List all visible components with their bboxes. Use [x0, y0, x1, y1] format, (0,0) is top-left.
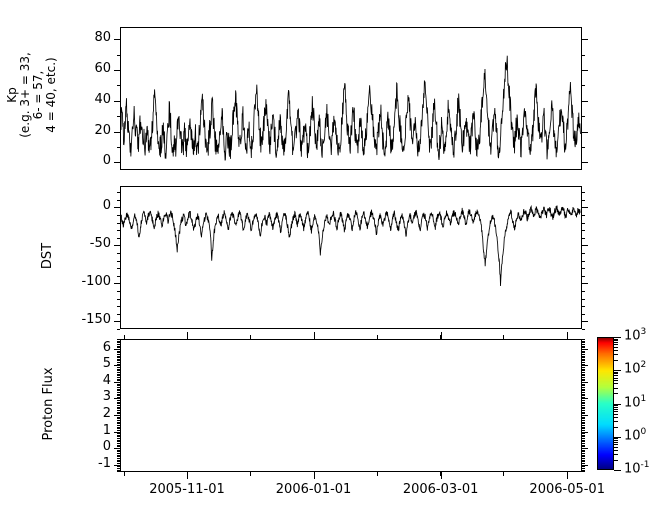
colorbar-minor-tick: [614, 375, 618, 376]
y-minor-tick: [582, 430, 585, 431]
y-minor-tick: [582, 116, 585, 117]
y-minor-tick: [582, 412, 585, 413]
colorbar-tick-exponent: 1: [641, 394, 647, 404]
y-minor-tick: [117, 461, 120, 462]
x-tick-label: 2006-01-01: [259, 482, 369, 497]
y-minor-tick: [117, 446, 120, 447]
y-minor-tick: [117, 55, 120, 56]
colorbar-tick-label: 102: [624, 360, 646, 376]
y-minor-tick: [582, 440, 585, 441]
y-major-tick: [114, 321, 120, 322]
colorbar-minor-tick: [614, 378, 618, 379]
y-minor-tick: [582, 407, 585, 408]
y-minor-tick: [117, 342, 120, 343]
y-minor-tick: [117, 394, 120, 395]
y-minor-tick: [582, 403, 585, 404]
y-minor-tick: [582, 276, 585, 277]
y-minor-tick: [582, 356, 585, 357]
colorbar-tick-exponent: -1: [641, 460, 650, 470]
y-minor-tick: [582, 390, 585, 391]
y-minor-tick: [117, 384, 120, 385]
panel-kp-ylabel-line: 4 = 40, etc.): [45, 57, 58, 132]
x-major-tick: [441, 472, 442, 479]
y-minor-tick: [582, 306, 585, 307]
y-minor-tick: [582, 410, 585, 411]
colorbar-minor-tick: [614, 339, 618, 340]
y-minor-tick: [582, 374, 585, 375]
x-minor-tick: [503, 472, 504, 476]
colorbar-minor-tick: [614, 442, 618, 443]
panel-proton-flux-ylabel: Proton Flux: [42, 349, 56, 459]
x-major-tick: [314, 472, 315, 479]
y-tick-label: -150: [81, 312, 111, 327]
y-minor-tick: [582, 344, 585, 345]
y-minor-tick: [582, 458, 585, 459]
y-major-tick: [582, 382, 588, 383]
y-tick-label: 2: [103, 406, 111, 421]
y-minor-tick: [582, 418, 585, 419]
colorbar-minor-tick: [614, 444, 618, 445]
y-minor-tick: [582, 359, 585, 360]
colorbar-minor-tick: [614, 360, 618, 361]
y-minor-tick: [117, 441, 120, 442]
y-minor-tick: [582, 377, 585, 378]
y-minor-tick: [117, 417, 120, 418]
y-minor-tick: [117, 438, 120, 439]
y-minor-tick: [582, 438, 585, 439]
y-minor-tick: [582, 389, 585, 390]
y-minor-tick: [582, 360, 585, 361]
y-minor-tick: [582, 380, 585, 381]
y-minor-tick: [117, 192, 120, 193]
y-minor-tick: [582, 392, 585, 393]
y-minor-tick: [117, 291, 120, 292]
y-minor-tick: [582, 375, 585, 376]
y-major-tick: [582, 465, 588, 466]
y-minor-tick: [117, 405, 120, 406]
x-tick-label: 2006-05-01: [512, 482, 622, 497]
y-major-tick: [582, 70, 588, 71]
y-major-tick: [582, 321, 588, 322]
y-major-tick: [114, 448, 120, 449]
y-minor-tick: [582, 402, 585, 403]
y-minor-tick: [582, 215, 585, 216]
y-minor-tick: [582, 341, 585, 342]
y-major-tick: [114, 39, 120, 40]
y-major-tick: [582, 162, 588, 163]
colorbar-minor-tick: [614, 411, 618, 412]
y-minor-tick: [117, 306, 120, 307]
y-minor-tick: [117, 268, 120, 269]
y-minor-tick: [582, 460, 585, 461]
y-minor-tick: [117, 453, 120, 454]
y-minor-tick: [117, 427, 120, 428]
y-minor-tick: [582, 357, 585, 358]
colorbar-minor-tick: [614, 427, 618, 428]
y-minor-tick: [117, 402, 120, 403]
colorbar-tick-label: 100: [624, 427, 646, 443]
y-tick-label: 0: [103, 153, 111, 168]
y-minor-tick: [117, 445, 120, 446]
colorbar-minor-tick: [614, 373, 618, 374]
y-minor-tick: [582, 192, 585, 193]
colorbar-tick-label: 101: [624, 394, 646, 410]
dst-trace: [121, 187, 581, 328]
y-minor-tick: [582, 200, 585, 201]
y-minor-tick: [117, 299, 120, 300]
y-tick-label: 40: [94, 92, 111, 107]
y-minor-tick: [582, 230, 585, 231]
y-minor-tick: [582, 427, 585, 428]
y-minor-tick: [117, 223, 120, 224]
colorbar-minor-tick: [614, 342, 618, 343]
y-minor-tick: [117, 425, 120, 426]
y-major-tick: [114, 101, 120, 102]
x-major-tick: [187, 332, 188, 339]
y-major-tick: [582, 207, 588, 208]
y-minor-tick: [117, 436, 120, 437]
y-minor-tick: [117, 470, 120, 471]
panel-pf-frame: [120, 339, 582, 472]
y-tick-label: 20: [94, 123, 111, 138]
y-minor-tick: [582, 352, 585, 353]
colorbar-minor-tick: [614, 372, 618, 373]
colorbar-minor-tick: [614, 380, 618, 381]
y-major-tick: [114, 70, 120, 71]
x-major-tick: [187, 472, 188, 479]
y-minor-tick: [117, 116, 120, 117]
y-minor-tick: [582, 441, 585, 442]
colorbar-minor-tick: [614, 350, 618, 351]
y-major-tick: [114, 162, 120, 163]
colorbar-tick-exponent: 2: [641, 360, 647, 370]
y-minor-tick: [582, 428, 585, 429]
y-minor-tick: [582, 314, 585, 315]
figure-canvas: 020406080Kp(e.g. 3+ = 33,6- = 57,4 = 40,…: [0, 0, 665, 523]
y-minor-tick: [582, 385, 585, 386]
y-minor-tick: [117, 276, 120, 277]
colorbar-minor-tick: [614, 347, 618, 348]
y-minor-tick: [117, 407, 120, 408]
colorbar-minor-tick: [614, 440, 618, 441]
y-minor-tick: [117, 385, 120, 386]
y-major-tick: [582, 432, 588, 433]
y-minor-tick: [582, 413, 585, 414]
colorbar-tick-label: 103: [624, 327, 646, 343]
x-minor-tick: [124, 335, 125, 339]
y-minor-tick: [117, 329, 120, 330]
y-minor-tick: [117, 403, 120, 404]
y-minor-tick: [117, 400, 120, 401]
y-minor-tick: [582, 329, 585, 330]
y-minor-tick: [117, 440, 120, 441]
y-minor-tick: [582, 291, 585, 292]
y-minor-tick: [117, 377, 120, 378]
y-minor-tick: [582, 384, 585, 385]
y-major-tick: [114, 398, 120, 399]
y-minor-tick: [117, 390, 120, 391]
y-minor-tick: [582, 268, 585, 269]
y-minor-tick: [117, 443, 120, 444]
y-major-tick: [114, 432, 120, 433]
y-minor-tick: [582, 463, 585, 464]
colorbar-minor-tick: [614, 417, 618, 418]
y-minor-tick: [117, 451, 120, 452]
y-minor-tick: [582, 367, 585, 368]
y-tick-label: 60: [94, 61, 111, 76]
y-minor-tick: [117, 423, 120, 424]
colorbar-tick-label: 10-1: [624, 460, 650, 476]
y-minor-tick: [582, 470, 585, 471]
y-major-tick: [114, 365, 120, 366]
y-minor-tick: [582, 453, 585, 454]
y-major-tick: [582, 415, 588, 416]
y-major-tick: [582, 448, 588, 449]
y-minor-tick: [117, 389, 120, 390]
y-major-tick: [582, 398, 588, 399]
y-minor-tick: [582, 450, 585, 451]
y-tick-label: 5: [103, 356, 111, 371]
colorbar-minor-tick: [614, 454, 618, 455]
y-major-tick: [114, 465, 120, 466]
y-major-tick: [582, 39, 588, 40]
x-minor-tick: [503, 335, 504, 339]
y-major-tick: [114, 207, 120, 208]
colorbar-tick-base: 10: [624, 461, 641, 476]
y-minor-tick: [117, 422, 120, 423]
y-minor-tick: [117, 380, 120, 381]
y-tick-label: -50: [90, 236, 111, 251]
colorbar-tick-exponent: 3: [641, 327, 647, 337]
colorbar-minor-tick: [614, 414, 618, 415]
colorbar-minor-tick: [614, 388, 618, 389]
y-minor-tick: [117, 85, 120, 86]
colorbar-minor-tick: [614, 354, 618, 355]
y-major-tick: [114, 415, 120, 416]
colorbar-major-tick: [614, 470, 621, 471]
y-major-tick: [114, 283, 120, 284]
y-minor-tick: [582, 369, 585, 370]
y-minor-tick: [117, 412, 120, 413]
x-minor-tick: [124, 472, 125, 476]
y-minor-tick: [117, 471, 120, 472]
y-tick-label: 6: [103, 340, 111, 355]
y-minor-tick: [117, 341, 120, 342]
y-minor-tick: [582, 445, 585, 446]
y-minor-tick: [582, 372, 585, 373]
colorbar-tick-exponent: 0: [641, 427, 647, 437]
y-minor-tick: [582, 379, 585, 380]
y-minor-tick: [117, 435, 120, 436]
colorbar-minor-tick: [614, 407, 618, 408]
y-minor-tick: [582, 238, 585, 239]
y-minor-tick: [582, 387, 585, 388]
y-minor-tick: [117, 200, 120, 201]
x-major-tick: [441, 332, 442, 339]
colorbar-major-tick: [614, 404, 621, 405]
colorbar-tick-base: 10: [624, 328, 641, 343]
y-minor-tick: [582, 351, 585, 352]
colorbar-frame: [597, 337, 614, 470]
y-minor-tick: [117, 261, 120, 262]
y-minor-tick: [117, 346, 120, 347]
y-minor-tick: [582, 346, 585, 347]
y-minor-tick: [117, 362, 120, 363]
y-minor-tick: [582, 425, 585, 426]
y-minor-tick: [117, 387, 120, 388]
y-minor-tick: [117, 420, 120, 421]
colorbar-minor-tick: [614, 340, 618, 341]
y-minor-tick: [582, 342, 585, 343]
y-major-tick: [582, 132, 588, 133]
y-minor-tick: [117, 360, 120, 361]
y-tick-label: 0: [103, 439, 111, 454]
y-major-tick: [114, 132, 120, 133]
y-minor-tick: [582, 339, 585, 340]
y-minor-tick: [117, 344, 120, 345]
y-tick-label: -100: [81, 274, 111, 289]
colorbar-major-tick: [614, 437, 621, 438]
y-minor-tick: [117, 413, 120, 414]
y-minor-tick: [582, 408, 585, 409]
colorbar-minor-tick: [614, 460, 618, 461]
y-minor-tick: [117, 375, 120, 376]
y-minor-tick: [582, 253, 585, 254]
y-minor-tick: [582, 223, 585, 224]
y-major-tick: [582, 283, 588, 284]
y-minor-tick: [582, 261, 585, 262]
y-minor-tick: [117, 408, 120, 409]
y-minor-tick: [582, 354, 585, 355]
x-major-tick: [567, 332, 568, 339]
y-minor-tick: [117, 418, 120, 419]
y-minor-tick: [582, 420, 585, 421]
x-major-tick: [567, 472, 568, 479]
y-minor-tick: [117, 460, 120, 461]
colorbar-minor-tick: [614, 450, 618, 451]
y-minor-tick: [117, 392, 120, 393]
y-minor-tick: [117, 374, 120, 375]
y-minor-tick: [117, 238, 120, 239]
x-minor-tick: [250, 472, 251, 476]
y-minor-tick: [582, 400, 585, 401]
y-minor-tick: [582, 299, 585, 300]
y-minor-tick: [117, 456, 120, 457]
y-minor-tick: [117, 395, 120, 396]
y-minor-tick: [582, 461, 585, 462]
panel-kp-ylabel: Kp(e.g. 3+ = 33,6- = 57,4 = 40, etc.): [6, 35, 58, 155]
y-major-tick: [582, 349, 588, 350]
panel-dst-ylabel: DST: [41, 226, 55, 286]
y-minor-tick: [117, 450, 120, 451]
y-minor-tick: [117, 410, 120, 411]
y-minor-tick: [582, 468, 585, 469]
y-tick-label: 4: [103, 373, 111, 388]
y-minor-tick: [117, 339, 120, 340]
y-minor-tick: [582, 55, 585, 56]
colorbar-tick-base: 10: [624, 428, 641, 443]
y-minor-tick: [582, 405, 585, 406]
x-tick-label: 2006-03-01: [386, 482, 496, 497]
y-minor-tick: [582, 435, 585, 436]
y-minor-tick: [582, 423, 585, 424]
y-minor-tick: [117, 370, 120, 371]
y-minor-tick: [582, 394, 585, 395]
y-minor-tick: [117, 372, 120, 373]
y-minor-tick: [117, 147, 120, 148]
y-minor-tick: [582, 456, 585, 457]
y-major-tick: [582, 245, 588, 246]
x-minor-tick: [377, 472, 378, 476]
y-minor-tick: [117, 215, 120, 216]
y-minor-tick: [582, 85, 585, 86]
y-minor-tick: [582, 443, 585, 444]
y-minor-tick: [117, 367, 120, 368]
y-tick-label: -1: [98, 456, 111, 471]
y-tick-label: 80: [94, 30, 111, 45]
y-minor-tick: [117, 351, 120, 352]
y-major-tick: [114, 245, 120, 246]
y-minor-tick: [582, 362, 585, 363]
colorbar-minor-tick: [614, 447, 618, 448]
y-minor-tick: [582, 436, 585, 437]
colorbar-tick-base: 10: [624, 362, 641, 377]
y-minor-tick: [117, 359, 120, 360]
y-major-tick: [582, 365, 588, 366]
y-tick-label: 3: [103, 389, 111, 404]
y-minor-tick: [117, 369, 120, 370]
colorbar-tick-base: 10: [624, 395, 641, 410]
y-minor-tick: [582, 451, 585, 452]
x-tick-label: 2005-11-01: [132, 482, 242, 497]
colorbar-minor-tick: [614, 409, 618, 410]
colorbar-minor-tick: [614, 383, 618, 384]
y-minor-tick: [582, 455, 585, 456]
y-tick-label: 0: [103, 198, 111, 213]
y-minor-tick: [117, 379, 120, 380]
x-major-tick: [314, 332, 315, 339]
colorbar-minor-tick: [614, 344, 618, 345]
y-major-tick: [114, 382, 120, 383]
colorbar-minor-tick: [614, 393, 618, 394]
y-minor-tick: [117, 463, 120, 464]
y-minor-tick: [582, 147, 585, 148]
y-minor-tick: [582, 417, 585, 418]
colorbar-minor-tick: [614, 421, 618, 422]
y-minor-tick: [582, 422, 585, 423]
y-major-tick: [582, 101, 588, 102]
y-major-tick: [114, 349, 120, 350]
y-minor-tick: [582, 446, 585, 447]
y-minor-tick: [117, 314, 120, 315]
y-minor-tick: [117, 430, 120, 431]
colorbar-major-tick: [614, 370, 621, 371]
y-minor-tick: [582, 370, 585, 371]
y-minor-tick: [117, 356, 120, 357]
y-minor-tick: [117, 357, 120, 358]
kp-trace: [121, 28, 581, 169]
colorbar-major-tick: [614, 337, 621, 338]
y-minor-tick: [117, 253, 120, 254]
x-minor-tick: [250, 335, 251, 339]
y-minor-tick: [117, 347, 120, 348]
y-minor-tick: [117, 428, 120, 429]
y-minor-tick: [117, 230, 120, 231]
y-minor-tick: [582, 471, 585, 472]
y-minor-tick: [117, 354, 120, 355]
y-minor-tick: [582, 347, 585, 348]
y-minor-tick: [117, 468, 120, 469]
